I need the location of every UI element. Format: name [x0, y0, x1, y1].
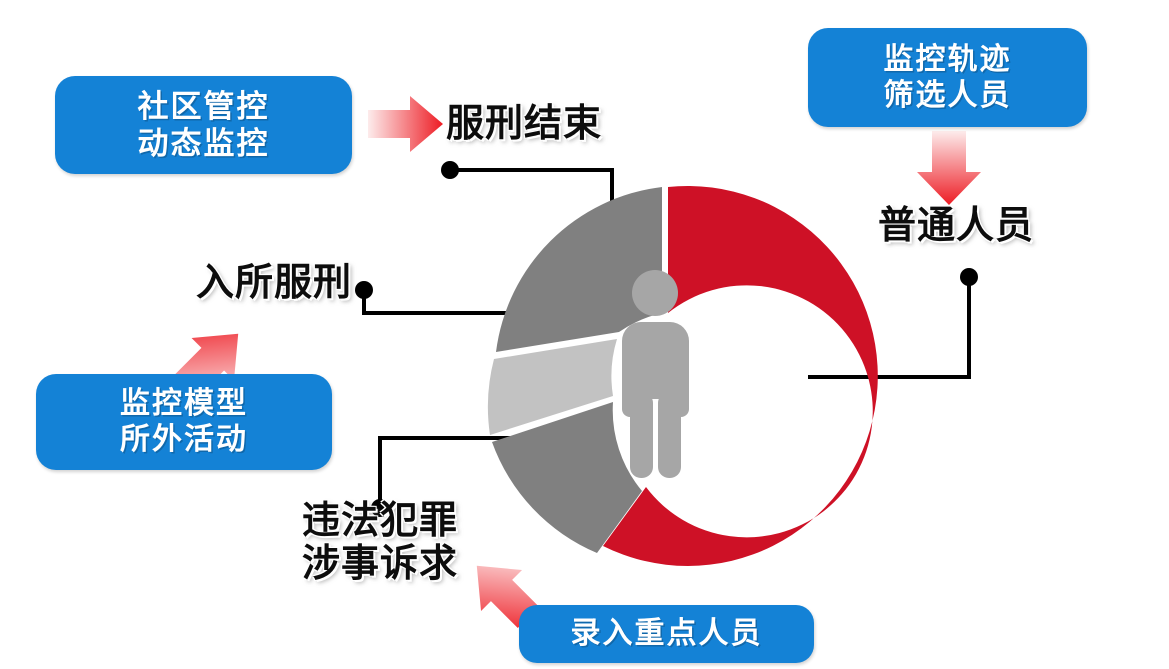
label-crime: 违法犯罪 涉事诉求	[302, 500, 458, 585]
box-community-line2: 动态监控	[138, 125, 270, 162]
connector-serve	[364, 290, 518, 313]
box-community-control[interactable]: 社区管控 动态监控	[55, 76, 352, 174]
box-community-line1: 社区管控	[138, 88, 270, 125]
box-model-line1: 监控模型	[120, 386, 248, 422]
connector-dot-release	[441, 161, 459, 179]
box-monitor-model[interactable]: 监控模型 所外活动	[36, 374, 332, 470]
label-serve: 入所服刑	[196, 262, 352, 305]
arrow-track-to-normal-icon	[917, 131, 981, 205]
box-track-line1: 监控轨迹	[884, 42, 1012, 78]
box-register-key-person[interactable]: 录入重点人员	[519, 605, 814, 663]
connector-dot-serve	[355, 281, 373, 299]
label-normal: 普通人员	[878, 205, 1034, 248]
arrow-community-to-release-icon	[368, 96, 443, 152]
label-crime-line2: 涉事诉求	[302, 543, 458, 586]
label-release: 服刑结束	[446, 103, 602, 146]
label-crime-line1: 违法犯罪	[302, 500, 458, 543]
connector-release	[450, 170, 612, 216]
diagram-canvas: 社区管控 动态监控 监控模型 所外活动 监控轨迹 筛选人员 录入重点人员 服刑结…	[0, 0, 1169, 669]
box-entry-line1: 录入重点人员	[571, 616, 763, 652]
box-model-line2: 所外活动	[120, 422, 248, 458]
box-track-screening[interactable]: 监控轨迹 筛选人员	[808, 28, 1087, 127]
box-track-line2: 筛选人员	[884, 78, 1012, 114]
connector-dot-normal	[960, 268, 978, 286]
